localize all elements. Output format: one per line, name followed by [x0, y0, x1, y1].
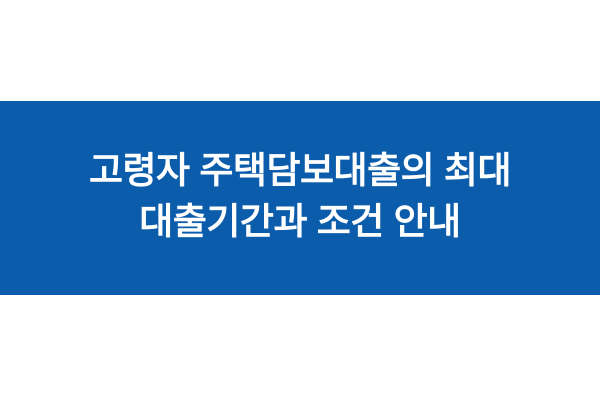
- banner-title-line-1: 고령자 주택담보대출의 최대: [0, 145, 600, 196]
- banner-canvas: 고령자 주택담보대출의 최대 대출기간과 조건 안내: [0, 0, 600, 400]
- banner-title-block: 고령자 주택담보대출의 최대 대출기간과 조건 안내: [0, 145, 600, 251]
- banner-blue-band: 고령자 주택담보대출의 최대 대출기간과 조건 안내: [0, 101, 600, 295]
- banner-title-line-2: 대출기간과 조건 안내: [0, 196, 600, 247]
